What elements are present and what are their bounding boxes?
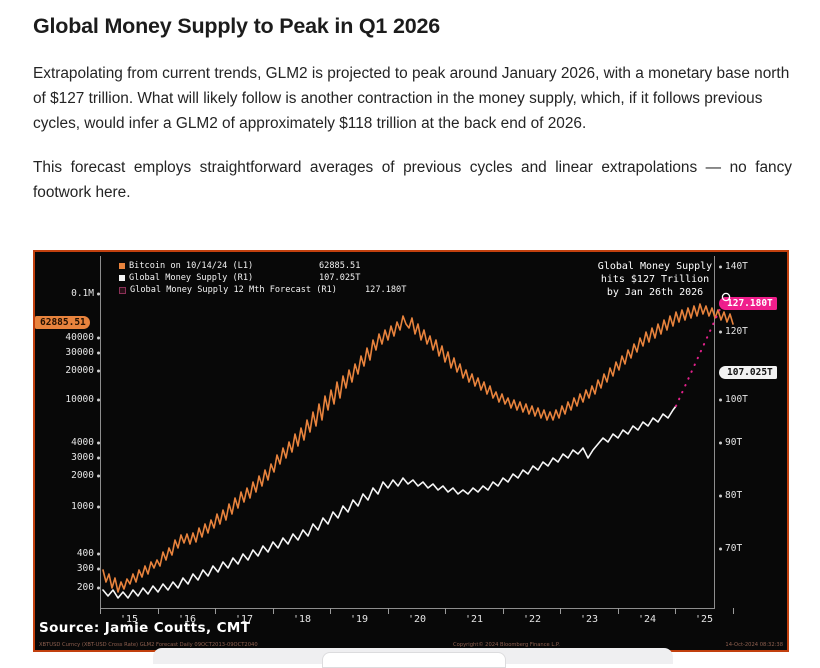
chart-plot-area: 0.1M 40000 30000 20000 10000 4000 3000 2… [35,252,787,650]
chart-source-label: Source: Jamie Coutts, CMT [39,620,250,636]
forecast-endpoint-marker [722,293,729,300]
article-page: Global Money Supply to Peak in Q1 2026 E… [0,0,820,660]
article-body: Global Money Supply to Peak in Q1 2026 E… [0,0,820,206]
article-paragraph-1: Extrapolating from current trends, GLM2 … [33,62,792,137]
series-path-money-supply [103,406,676,598]
series-path-bitcoin [103,304,733,592]
browser-url-bar-sliver[interactable] [322,652,506,668]
bloomberg-chart: 0.1M 40000 30000 20000 10000 4000 3000 2… [33,250,789,652]
article-paragraph-2: This forecast employs straightforward av… [33,156,792,206]
chart-series-svg [35,252,787,650]
page-title: Global Money Supply to Peak in Q1 2026 [33,14,792,40]
chart-meta-right: 14-Oct-2024 08:32:38 [725,642,783,648]
